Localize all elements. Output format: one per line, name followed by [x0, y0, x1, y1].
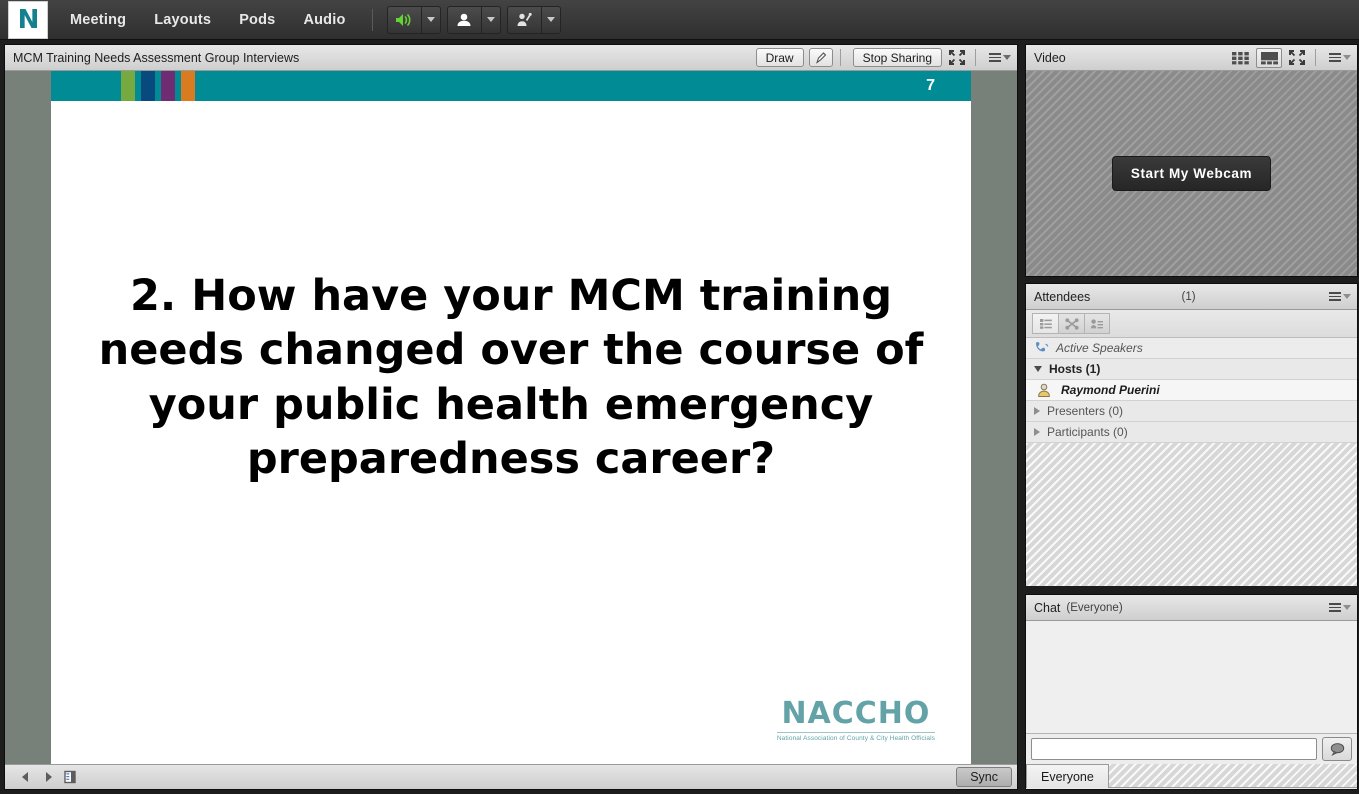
fullscreen-icon: [949, 50, 965, 65]
chat-input-row: [1026, 734, 1357, 764]
attendees-pod-header: Attendees (1): [1026, 284, 1357, 310]
menubar-divider: [372, 9, 373, 31]
video-pod-title: Video: [1034, 51, 1224, 65]
menu-meeting[interactable]: Meeting: [70, 12, 126, 28]
host-avatar-icon: [1036, 383, 1052, 398]
breakout-view-icon: [1065, 318, 1079, 330]
presentation-slide[interactable]: 7 2. How have your MCM training needs ch…: [51, 71, 971, 764]
active-speakers-label: Active Speakers: [1056, 341, 1143, 355]
chevron-down-icon: [427, 17, 435, 22]
speaker-control-group: [387, 6, 441, 34]
sync-button[interactable]: Sync: [956, 767, 1012, 787]
video-pod: Video: [1025, 44, 1358, 277]
logo-letter: N: [18, 7, 39, 33]
webcam-button[interactable]: [447, 6, 481, 34]
video-header-divider: [1315, 49, 1316, 66]
video-pod-body: Start My Webcam: [1026, 71, 1357, 276]
fullscreen-icon: [1289, 50, 1305, 65]
banner-stripe-green: [121, 71, 135, 101]
pod-menu-icon: [1329, 53, 1341, 62]
chat-pod-header: Chat (Everyone): [1026, 595, 1357, 621]
share-fullscreen-button[interactable]: [946, 48, 968, 68]
chevron-down-icon: [487, 17, 495, 22]
pod-menu-icon: [989, 53, 1001, 62]
chat-scope-label: (Everyone): [1066, 602, 1323, 614]
banner-stripe-purple: [161, 71, 175, 101]
webcam-dropdown-button[interactable]: [481, 6, 501, 34]
previous-slide-button[interactable]: [15, 767, 37, 787]
draw-button[interactable]: Draw: [756, 48, 804, 67]
chevron-down-icon: [1343, 55, 1351, 60]
raise-hand-control-group: [507, 6, 561, 34]
menu-layouts[interactable]: Layouts: [154, 12, 211, 28]
chevron-right-icon: [1034, 407, 1040, 415]
share-pod-title: MCM Training Needs Assessment Group Inte…: [13, 51, 751, 65]
chevron-down-icon: [1343, 605, 1351, 610]
breakout-view-button[interactable]: [1058, 313, 1084, 334]
attendee-group-participants[interactable]: Participants (0): [1026, 422, 1357, 443]
adobe-connect-meeting-window: N Meeting Layouts Pods Audio: [0, 0, 1359, 794]
previous-slide-icon: [19, 770, 33, 784]
raise-hand-dropdown-button[interactable]: [541, 6, 561, 34]
chat-message-area[interactable]: [1026, 621, 1357, 734]
video-pod-header: Video: [1026, 45, 1357, 71]
naccho-tagline: National Association of County & City He…: [777, 732, 935, 742]
pointer-button[interactable]: [809, 48, 833, 67]
phone-icon: [1034, 341, 1050, 355]
share-pod-header: MCM Training Needs Assessment Group Inte…: [5, 45, 1017, 71]
slide-content: 2. How have your MCM training needs chan…: [51, 101, 971, 764]
speaker-button[interactable]: [387, 6, 421, 34]
main-menubar: N Meeting Layouts Pods Audio: [0, 0, 1359, 40]
slide-question-text: 2. How have your MCM training needs chan…: [96, 269, 926, 486]
banner-stripe-blue: [141, 71, 155, 101]
next-slide-icon: [41, 770, 55, 784]
chat-tabs-filler: [1109, 764, 1357, 788]
share-pod: MCM Training Needs Assessment Group Inte…: [4, 44, 1018, 790]
app-logo: N: [8, 1, 48, 39]
filmstrip-layout-button[interactable]: [1256, 48, 1282, 68]
attendees-pod-menu-button[interactable]: [1327, 287, 1353, 307]
raise-hand-icon: [515, 12, 533, 28]
menu-audio[interactable]: Audio: [303, 12, 345, 28]
share-pod-footer: Sync: [5, 764, 1017, 789]
webcam-icon: [455, 12, 473, 28]
pod-menu-icon: [1329, 292, 1341, 301]
attendee-row-host[interactable]: Raymond Puerini: [1026, 380, 1357, 401]
chevron-down-icon: [547, 17, 555, 22]
chat-pod-menu-button[interactable]: [1327, 598, 1353, 618]
grid-layout-icon: [1231, 51, 1250, 65]
attendee-details-icon: [1090, 318, 1104, 330]
attendees-pod-title: Attendees: [1034, 290, 1176, 304]
pod-menu-icon: [1329, 603, 1341, 612]
grid-layout-button[interactable]: [1227, 48, 1253, 68]
video-pod-menu-button[interactable]: [1327, 48, 1353, 68]
slide-banner: 7: [51, 71, 971, 101]
chevron-right-icon: [1034, 428, 1040, 436]
speaker-icon: [394, 12, 414, 28]
share-stage: 7 2. How have your MCM training needs ch…: [5, 71, 1017, 764]
raise-hand-button[interactable]: [507, 6, 541, 34]
filmstrip-layout-icon: [1260, 51, 1279, 65]
naccho-logo: NACCHO National Association of County & …: [777, 699, 935, 742]
chevron-down-icon: [1034, 366, 1042, 372]
toggle-sidebar-icon: [63, 770, 77, 784]
send-message-button[interactable]: [1322, 737, 1352, 761]
attendee-details-button[interactable]: [1084, 313, 1110, 334]
attendee-name: Raymond Puerini: [1061, 383, 1160, 397]
chat-input[interactable]: [1031, 738, 1317, 760]
attendees-view-toolbar: [1026, 310, 1357, 338]
pointer-icon: [814, 51, 827, 65]
slide-page-number: 7: [926, 71, 935, 101]
speaker-dropdown-button[interactable]: [421, 6, 441, 34]
stop-sharing-button[interactable]: Stop Sharing: [853, 48, 942, 67]
header-divider-2: [975, 49, 976, 66]
attendee-group-presenters[interactable]: Presenters (0): [1026, 401, 1357, 422]
chevron-down-icon: [1003, 55, 1011, 60]
participants-group-label: Participants (0): [1047, 425, 1128, 439]
toggle-sidebar-button[interactable]: [59, 767, 81, 787]
naccho-wordmark: NACCHO: [777, 699, 935, 729]
chat-pod: Chat (Everyone) Everyone: [1025, 594, 1358, 790]
chevron-down-icon: [1343, 294, 1351, 299]
attendees-pod: Attendees (1): [1025, 283, 1358, 586]
attendees-count: (1): [1182, 291, 1324, 303]
chat-tab-everyone[interactable]: Everyone: [1026, 764, 1109, 788]
share-pod-menu-button[interactable]: [987, 48, 1013, 68]
header-divider: [840, 49, 841, 66]
attendee-group-hosts[interactable]: Hosts (1): [1026, 359, 1357, 380]
list-view-button[interactable]: [1032, 313, 1058, 334]
menu-items: Meeting Layouts Pods Audio: [70, 12, 346, 28]
chat-pod-title: Chat: [1034, 601, 1060, 615]
next-slide-button[interactable]: [37, 767, 59, 787]
send-message-icon: [1329, 742, 1346, 756]
chat-tabs: Everyone: [1026, 764, 1357, 788]
attendees-empty-area: [1026, 443, 1357, 586]
start-my-webcam-button[interactable]: Start My Webcam: [1112, 156, 1271, 191]
banner-stripe-orange: [181, 71, 195, 101]
hosts-group-label: Hosts (1): [1049, 362, 1100, 376]
video-fullscreen-button[interactable]: [1286, 48, 1308, 68]
list-view-icon: [1039, 318, 1053, 330]
presenters-group-label: Presenters (0): [1047, 404, 1123, 418]
webcam-control-group: [447, 6, 501, 34]
menu-pods[interactable]: Pods: [239, 12, 275, 28]
active-speakers-row[interactable]: Active Speakers: [1026, 338, 1357, 359]
